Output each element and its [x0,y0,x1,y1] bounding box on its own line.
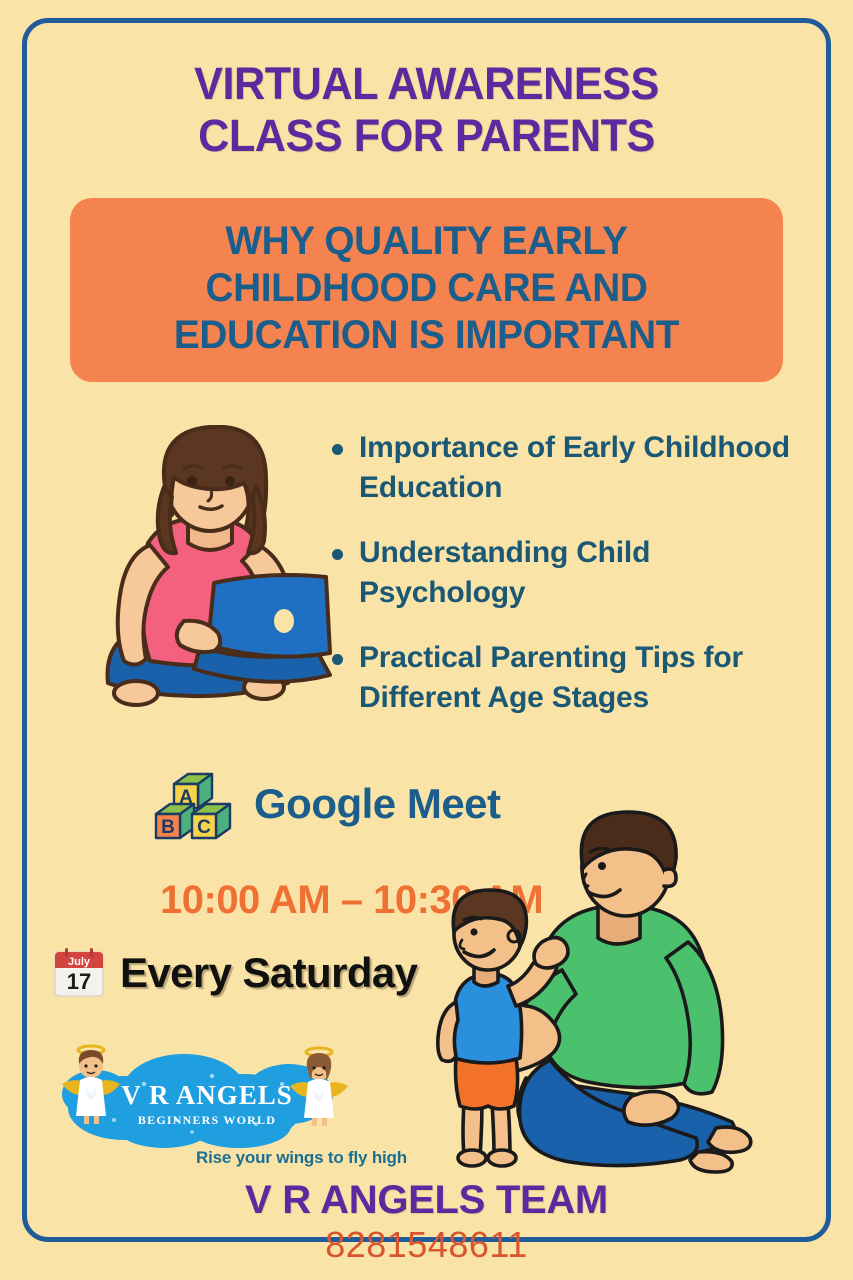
list-item: Importance of Early Childhood Education [332,428,802,507]
logo-subtitle-text: BEGINNERS WORLD [138,1113,276,1127]
block-letter-c: C [197,817,211,838]
bullet-dot-icon [332,654,343,665]
calendar-day: 17 [67,969,91,994]
topic-text: Importance of Early Childhood Education [359,428,802,507]
schedule-day-label: Every Saturday [120,949,417,997]
topics-list: Importance of Early Childhood Education … [332,428,802,744]
banner-line-1: WHY QUALITY EARLY [96,218,757,265]
logo-tagline: Rise your wings to fly high [196,1148,407,1168]
topic-text: Understanding Child Psychology [359,533,802,612]
team-name: V R ANGELS TEAM [0,1178,853,1223]
topic-text: Practical Parenting Tips for Different A… [359,638,802,717]
poster-canvas: VIRTUAL AWARENESS CLASS FOR PARENTS WHY … [0,0,853,1280]
banner-line-2: CHILDHOOD CARE AND [96,265,757,312]
list-item: Practical Parenting Tips for Different A… [332,638,802,717]
bullet-dot-icon [332,549,343,560]
logo-brand-text: V R ANGELS [121,1080,293,1110]
calendar-month: July [68,956,91,968]
bullet-dot-icon [332,444,343,455]
title-line-1: VIRTUAL AWARENESS [17,58,836,110]
schedule-day-row: July 17 Every Saturday [52,946,417,1000]
headline-banner: WHY QUALITY EARLY CHILDHOOD CARE AND EDU… [70,198,783,382]
block-letter-b: B [161,817,175,838]
vr-angels-logo: V R ANGELS BEGINNERS WORLD [44,1036,374,1156]
abc-blocks-icon: A B C [150,768,236,840]
father-and-child-illustration [430,810,800,1210]
woman-with-laptop-illustration [88,425,338,725]
page-title: VIRTUAL AWARENESS CLASS FOR PARENTS [17,58,836,162]
list-item: Understanding Child Psychology [332,533,802,612]
title-line-2: CLASS FOR PARENTS [17,110,836,162]
block-letter-a: A [179,787,193,808]
calendar-icon: July 17 [52,946,106,1000]
banner-line-3: EDUCATION IS IMPORTANT [96,312,757,359]
contact-phone[interactable]: 8281548611 [0,1224,853,1266]
